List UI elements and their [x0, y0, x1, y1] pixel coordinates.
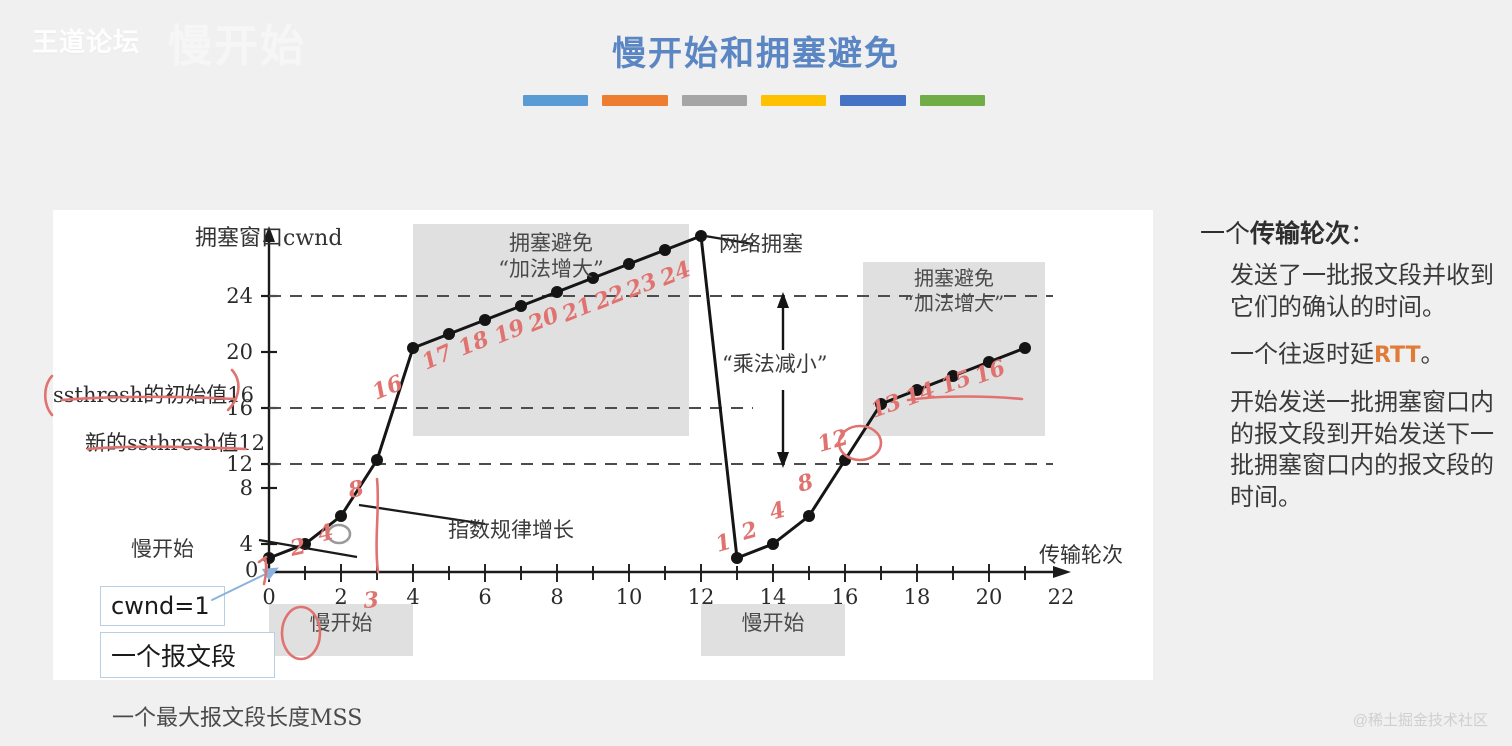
watermark-bottom-right: @稀土掘金技术社区	[1353, 709, 1488, 730]
label-mss-note: 一个最大报文段长度MSS	[112, 700, 362, 732]
sidebar: 一个传输轮次： 发送了一批报文段并收到它们的确认的时间。 一个往返时延RTT。 …	[1200, 214, 1500, 530]
callout-segment-box[interactable]: 一个报文段	[100, 632, 275, 678]
callout-cwnd-text: cwnd=1	[111, 592, 210, 620]
x-tick-16: 16	[825, 585, 865, 609]
x-tick-0: 0	[249, 585, 289, 609]
title-color-rule	[523, 95, 985, 106]
band-label-congestion-avoidance-1: 拥塞避免 “加法增大”	[433, 230, 669, 283]
x-tick-18: 18	[897, 585, 937, 609]
rule-bar-3	[682, 95, 747, 106]
page-title: 慢开始和拥塞避免	[0, 26, 1512, 75]
sidebar-p2-accent: RTT	[1374, 343, 1420, 368]
label-exponential-growth: 指数规律增长	[448, 514, 574, 544]
sidebar-paragraph-1: 发送了一批报文段并收到它们的确认的时间。	[1230, 260, 1500, 323]
sidebar-paragraph-3: 开始发送一批拥塞窗口内的报文段到开始发送下一批拥塞窗口内的报文段的时间。	[1230, 387, 1500, 514]
x-tick-2: 2	[321, 585, 361, 609]
ca1-line2: “加法增大”	[433, 256, 669, 282]
x-axis-title: 传输轮次	[1039, 539, 1123, 569]
band-label-congestion-avoidance-2: 拥塞避免 “加法增大”	[865, 266, 1043, 316]
band-label-slow-start-2: 慢开始	[701, 610, 845, 636]
sidebar-heading-prefix: 一个	[1200, 219, 1250, 248]
label-slow-start-arrow: 慢开始	[131, 533, 194, 563]
label-ssthresh-new: 新的ssthresh值12	[85, 427, 265, 457]
sidebar-paragraph-2: 一个往返时延RTT。	[1230, 339, 1500, 371]
y-origin-zero: 0	[245, 558, 258, 582]
slide-root: 王道论坛 慢开始 @稀土掘金技术社区 慢开始和拥塞避免	[0, 0, 1512, 746]
ca2-line1: 拥塞避免	[865, 266, 1043, 291]
band-label-slow-start-1: 慢开始	[269, 610, 413, 636]
rule-bar-2	[602, 95, 667, 106]
sidebar-p2-prefix: 一个往返时延	[1230, 340, 1374, 368]
sidebar-heading-bold: 传输轮次	[1250, 219, 1350, 248]
ca1-line1: 拥塞避免	[433, 230, 669, 256]
x-tick-22: 22	[1041, 585, 1081, 609]
callout-segment-text: 一个报文段	[111, 637, 236, 673]
x-tick-4: 4	[393, 585, 433, 609]
label-ssthresh-initial: ssthresh的初始值16	[53, 379, 254, 409]
y-axis-title: 拥塞窗口cwnd	[195, 220, 342, 252]
callout-cwnd-box[interactable]: cwnd=1	[100, 586, 225, 626]
y-tick-24: 24	[203, 284, 253, 308]
rule-bar-5	[840, 95, 905, 106]
y-tick-4: 4	[203, 532, 253, 556]
label-network-congestion: 网络拥塞	[719, 228, 803, 258]
label-multiplicative-decrease: “乘法减小”	[722, 348, 827, 378]
x-tick-14: 14	[753, 585, 793, 609]
x-tick-6: 6	[465, 585, 505, 609]
x-tick-20: 20	[969, 585, 1009, 609]
y-tick-8: 8	[203, 476, 253, 500]
sidebar-p2-suffix: 。	[1420, 340, 1444, 368]
sidebar-heading-suffix: ：	[1350, 219, 1375, 248]
x-tick-12: 12	[681, 585, 721, 609]
rule-bar-6	[920, 95, 985, 106]
sidebar-heading: 一个传输轮次：	[1200, 214, 1500, 250]
rule-bar-1	[523, 95, 588, 106]
x-tick-8: 8	[537, 585, 577, 609]
y-tick-20: 20	[203, 340, 253, 364]
x-tick-10: 10	[609, 585, 649, 609]
ca2-line2: “加法增大”	[865, 291, 1043, 316]
rule-bar-4	[761, 95, 826, 106]
